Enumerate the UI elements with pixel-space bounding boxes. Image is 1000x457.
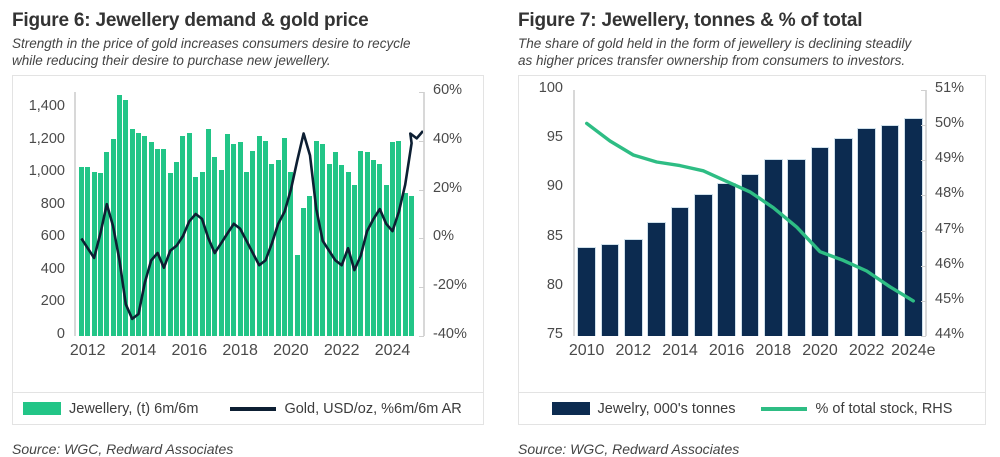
legend-label-gold: Gold, USD/oz, %6m/6m AR [284,401,461,417]
y-right-tickmark [921,231,926,232]
y-right-tick-51pct: 51% [935,80,964,96]
y-left-tick-95: 95 [519,129,563,145]
y-right-tickmark [419,190,424,191]
figure-6-panel: Figure 6: Jewellery demand & gold price … [0,0,500,457]
figure-6-subtitle-line-1: Strength in the price of gold increases … [12,35,488,52]
y-right-tickmark [419,336,424,337]
legend-item-jewellery-bars[interactable]: Jewellery, (t) 6m/6m [23,401,198,417]
figure-7-subtitle-line-2: as higher prices transfer ownership from… [518,52,988,69]
y-right-tick-49pct: 49% [935,150,964,166]
y-right-tick-40pct: 40% [433,131,462,147]
y-right-tick-44pct: 44% [935,326,964,342]
y-right-tick-48pct: 48% [935,185,964,201]
x-tick-2024e: 2024e [878,342,948,360]
legend-item-share-line[interactable]: % of total stock, RHS [761,401,952,417]
y-right-tick-45pct: 45% [935,291,964,307]
legend-label-share: % of total stock, RHS [815,401,952,417]
figure-7-legend: Jewelry, 000's tonnes % of total stock, … [518,393,986,425]
y-right-tick-20pct: 20% [433,180,462,196]
y-left-tick-100: 100 [519,80,563,96]
y-right-tick-60pct: 60% [433,82,462,98]
right-axis-spine [423,92,425,336]
legend-swatch-line-icon [761,407,807,411]
y-left-tick-75: 75 [519,326,563,342]
y-right-tickmark [921,266,926,267]
y-right-tickmark [419,92,424,93]
figure-7-panel: Figure 7: Jewellery, tonnes & % of total… [500,0,1000,457]
y-right-tickmark [419,238,424,239]
figure-7-source: Source: WGC, Redward Associates [518,441,988,457]
x-tick-2024: 2024 [363,342,423,360]
figure-6-source: Source: WGC, Redward Associates [12,441,488,457]
legend-swatch-bar-icon [23,402,61,415]
y-left-tick-90: 90 [519,178,563,194]
y-right-tick-0pct: 0% [433,228,454,244]
right-axis-spine [925,90,927,336]
figure-6-subtitle: Strength in the price of gold increases … [12,35,488,69]
legend-label-jewellery: Jewellery, (t) 6m/6m [69,401,198,417]
legend-item-gold-line[interactable]: Gold, USD/oz, %6m/6m AR [230,401,461,417]
y-right-tickmark [419,141,424,142]
y-right-tickmark [921,336,926,337]
figures-page: Figure 6: Jewellery demand & gold price … [0,0,1000,457]
y-right-tickmark [921,125,926,126]
y-right-tick-46pct: 46% [935,256,964,272]
y-left-tick-600: 600 [13,228,65,244]
figure-6-legend: Jewellery, (t) 6m/6m Gold, USD/oz, %6m/6… [12,393,484,425]
figure-7-title: Figure 7: Jewellery, tonnes & % of total [518,10,988,32]
y-right-tick-50pct: 50% [935,115,964,131]
y-left-tick-1,200: 1,200 [13,131,65,147]
y-right-tick--20pct: -20% [433,277,467,293]
share-of-total-line [587,123,914,301]
y-right-tickmark [921,301,926,302]
y-right-tickmark [921,90,926,91]
y-left-tick-200: 200 [13,293,65,309]
y-left-tick-1,000: 1,000 [13,163,65,179]
y-right-tickmark [921,195,926,196]
y-left-tick-0: 0 [13,326,65,342]
y-left-tick-400: 400 [13,261,65,277]
figure-7-chart: 758085909510044%45%46%47%48%49%50%51%201… [518,75,986,393]
y-left-tick-800: 800 [13,196,65,212]
left-axis-spine [573,90,575,336]
legend-swatch-line-icon [230,407,276,411]
y-right-tick-47pct: 47% [935,221,964,237]
y-left-tick-85: 85 [519,228,563,244]
y-left-tick-1,400: 1,400 [13,98,65,114]
legend-swatch-bar-icon [552,402,590,415]
figure-6-chart: 02004006008001,0001,2001,400-40%-20%0%20… [12,75,484,393]
figure-6-subtitle-line-2: while reducing their desire to purchase … [12,52,488,69]
left-axis-spine [74,92,76,336]
y-right-tick--40pct: -40% [433,326,467,342]
y-right-tickmark [921,160,926,161]
legend-item-jewelry-bars[interactable]: Jewelry, 000's tonnes [552,401,736,417]
y-right-tickmark [419,287,424,288]
gold-price-line [81,131,423,319]
figure-7-subtitle: The share of gold held in the form of je… [518,35,988,69]
legend-label-jewelry: Jewelry, 000's tonnes [598,401,736,417]
y-left-tick-80: 80 [519,277,563,293]
figure-6-title: Figure 6: Jewellery demand & gold price [12,10,488,32]
figure-7-subtitle-line-1: The share of gold held in the form of je… [518,35,988,52]
